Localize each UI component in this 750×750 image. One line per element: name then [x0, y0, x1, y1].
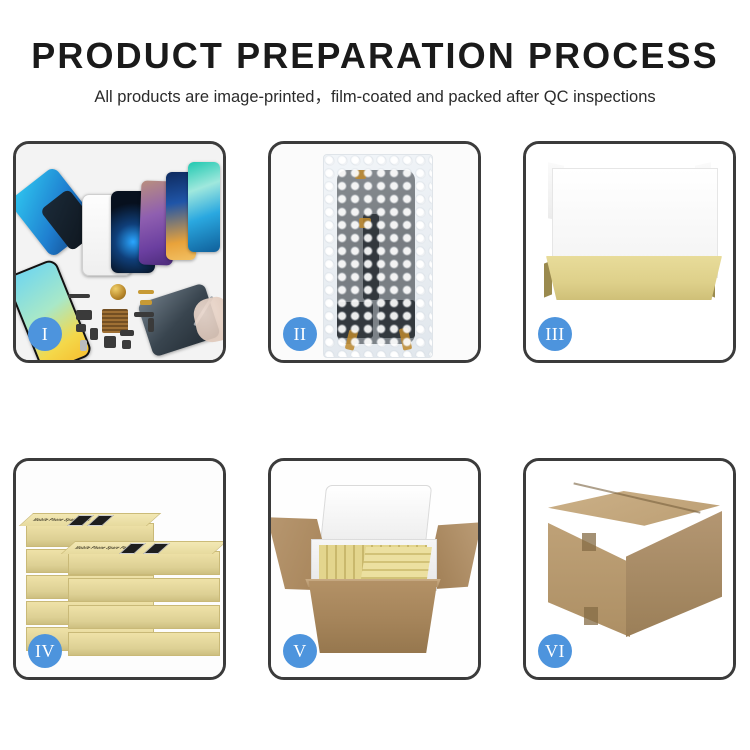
- carton-tape-upper: [582, 533, 596, 551]
- small-part-1: [76, 324, 86, 332]
- flex-cable-part: [120, 330, 134, 336]
- panel-step-4[interactable]: Mobile Phone Spare Parts Mobile Phone Sp…: [13, 458, 226, 680]
- speaker-coil-part: [110, 284, 126, 300]
- process-row-bottom: Mobile Phone Spare Parts Mobile Phone Sp…: [13, 458, 737, 680]
- step-badge-6: VI: [538, 634, 572, 668]
- stacked-box: Mobile Phone Spare Parts: [68, 551, 220, 575]
- vibrator-part: [104, 336, 116, 348]
- panel-step-5[interactable]: V: [268, 458, 481, 680]
- stacked-box: [68, 632, 220, 656]
- stacked-box: [68, 605, 220, 629]
- step-6-image: VI: [526, 461, 733, 677]
- step-2-image: II: [271, 144, 478, 360]
- step-badge-4: IV: [28, 634, 62, 668]
- foam-lid: [320, 485, 432, 545]
- step-4-image: Mobile Phone Spare Parts Mobile Phone Sp…: [16, 461, 223, 677]
- carton-tape-lower: [584, 607, 598, 625]
- panel-step-2[interactable]: II: [268, 141, 481, 363]
- page-header: PRODUCT PREPARATION PROCESS All products…: [0, 0, 750, 107]
- small-part-3: [122, 340, 131, 349]
- gold-connector-part: [138, 290, 154, 294]
- step-badge-2: II: [283, 317, 317, 351]
- stacked-box: [68, 578, 220, 602]
- gold-connector-part-2: [140, 300, 152, 305]
- panel-step-6[interactable]: VI: [523, 458, 736, 680]
- gold-tab-top: [355, 170, 366, 179]
- gold-tab-mid: [359, 218, 371, 228]
- sim-tray-part: [80, 340, 87, 351]
- step-badge-3: III: [538, 317, 572, 351]
- page-subtitle: All products are image-printed，film-coat…: [0, 88, 750, 108]
- ribbon-part-3: [148, 318, 154, 332]
- step-1-image: I: [16, 144, 223, 360]
- panel-step-3[interactable]: III: [523, 141, 736, 363]
- ribbon-part-1: [68, 294, 90, 298]
- carton-body: [303, 581, 443, 653]
- page-title: PRODUCT PREPARATION PROCESS: [0, 36, 750, 76]
- ribbon-part-2: [134, 312, 154, 317]
- process-step-grid: I II: [13, 141, 737, 680]
- yellow-box-front: [546, 256, 722, 300]
- step-badge-5: V: [283, 634, 317, 668]
- panel-step-1[interactable]: I: [13, 141, 226, 363]
- connector-block-right: [379, 300, 415, 338]
- step-5-image: V: [271, 461, 478, 677]
- process-row-top: I II: [13, 141, 737, 363]
- step-badge-1: I: [28, 317, 62, 351]
- teal-gradient-phone: [188, 162, 220, 252]
- camera-module-part: [76, 310, 92, 320]
- step-3-image: III: [526, 144, 733, 360]
- small-part-2: [90, 328, 98, 340]
